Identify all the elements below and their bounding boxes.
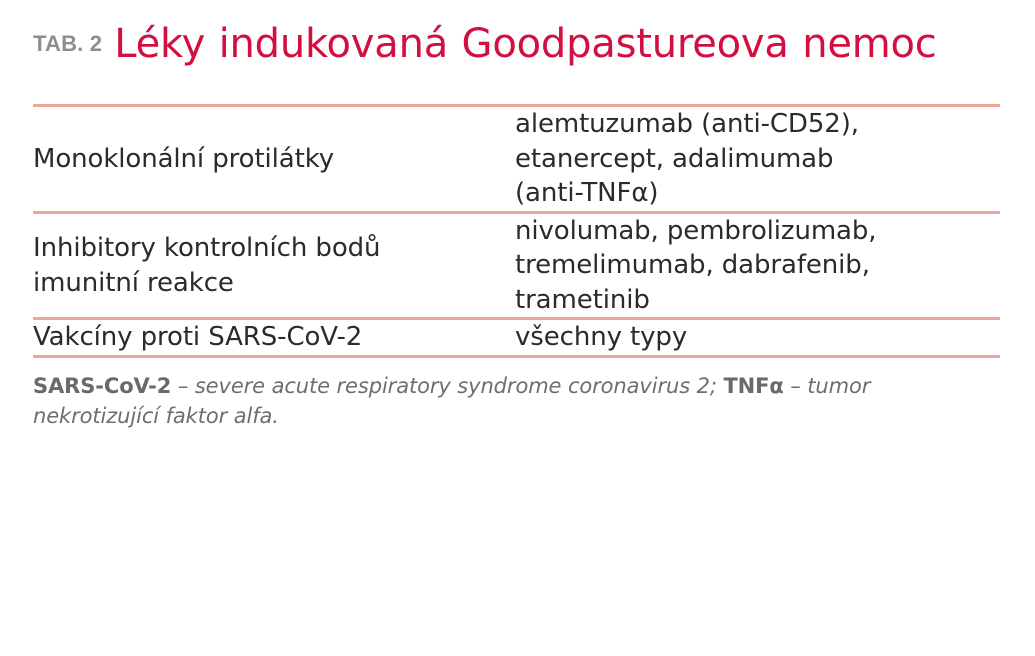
drugs-text: nivolumab, pembrolizumab, tremelimumab, … [515,214,1000,318]
drugs-line: tremelimumab, dabrafenib, [515,248,1000,283]
table-bottom-rule [33,355,1000,358]
table-cell-category: Monoklonální protilátky [33,107,515,212]
category-line: imunitní reakce [33,266,515,301]
table-footnote: SARS-CoV-2 – severe acute respiratory sy… [33,372,1000,432]
drugs-line: nivolumab, pembrolizumab, [515,214,1000,249]
table-cell-category: Inhibitory kontrolních bodů imunitní rea… [33,212,515,319]
table-cell-drugs: nivolumab, pembrolizumab, tremelimumab, … [515,212,1000,319]
footnote-abbreviation: TNFα [723,374,783,398]
table-cell-drugs: alemtuzumab (anti-CD52), etanercept, ada… [515,107,1000,212]
table-body: Monoklonální protilátky alemtuzumab (ant… [33,107,1000,355]
drugs-text: alemtuzumab (anti-CD52), etanercept, ada… [515,107,1000,211]
table-cell-category: Vakcíny proti SARS-CoV-2 [33,319,515,355]
drugs-text: všechny typy [515,320,1000,355]
drugs-line: alemtuzumab (anti-CD52), [515,107,1000,142]
table-row: Vakcíny proti SARS-CoV-2 všechny typy [33,319,1000,355]
footnote-expansion: – severe acute respiratory syndrome coro… [171,374,723,398]
table-cell-drugs: všechny typy [515,319,1000,355]
category-text: Inhibitory kontrolních bodů imunitní rea… [33,231,515,300]
category-text: Monoklonální protilátky [33,142,515,177]
drugs-line: (anti-TNFα) [515,176,1000,211]
table-row: Monoklonální protilátky alemtuzumab (ant… [33,107,1000,212]
table-row: Inhibitory kontrolních bodů imunitní rea… [33,212,1000,319]
category-text: Vakcíny proti SARS-CoV-2 [33,320,515,355]
drug-table: Monoklonální protilátky alemtuzumab (ant… [33,107,1000,355]
table-number-label: TAB. 2 [33,31,102,56]
footnote-abbreviation: SARS-CoV-2 [33,374,171,398]
table-title: Léky indukovaná Goodpastureova nemoc [114,21,936,67]
table-figure: TAB. 2Léky indukovaná Goodpastureova nem… [0,0,1035,656]
table-caption: TAB. 2Léky indukovaná Goodpastureova nem… [33,0,1002,70]
drugs-line: etanercept, adalimumab [515,142,1000,177]
category-line: Inhibitory kontrolních bodů [33,231,515,266]
drugs-line: trametinib [515,283,1000,318]
drugs-line: všechny typy [515,320,1000,355]
